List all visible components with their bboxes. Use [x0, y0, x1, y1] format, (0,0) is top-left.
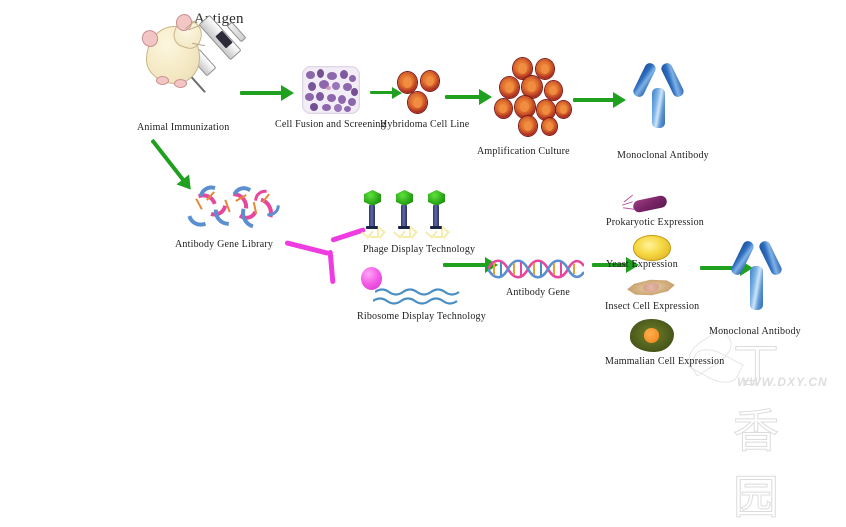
- bacterium-flagellum: [623, 207, 634, 210]
- arrow-shaft: [370, 91, 394, 94]
- label-mammalian-cell-expression: Mammalian Cell Expression: [605, 356, 724, 367]
- step-monoclonal-antibody-top: Monoclonal Antibody: [625, 60, 705, 155]
- label-amplification-culture: Amplification Culture: [477, 146, 570, 157]
- label-prokaryotic-expression: Prokaryotic Expression: [606, 217, 704, 228]
- magenta-y-arm-left: [284, 240, 330, 256]
- step-antibody-gene-library: Antibody Gene Library: [183, 183, 293, 263]
- label-animal-immunization: Animal Immunization: [137, 122, 229, 133]
- label-antibody-gene-library: Antibody Gene Library: [175, 239, 273, 250]
- watermark-url-text: WWW.DXY.CN: [737, 375, 828, 389]
- dna-helix-icon: [488, 258, 584, 280]
- arrow-shaft: [240, 91, 283, 95]
- dna-tangle-icon: [183, 183, 283, 229]
- label-monoclonal-antibody-top: Monoclonal Antibody: [617, 150, 709, 161]
- ribosome-mrna-strand: [373, 296, 461, 305]
- label-antibody-gene: Antibody Gene: [506, 287, 570, 298]
- expression-systems-group: Prokaryotic Expression Yeast Expression …: [605, 195, 735, 375]
- label-hybridoma-cell-line: Hybridoma Cell Line: [380, 119, 469, 130]
- ribosome-mrna-strand: [375, 287, 463, 296]
- antibody-stem: [750, 266, 763, 310]
- arrow-head: [281, 85, 294, 101]
- step-antibody-gene: Antibody Gene: [488, 258, 598, 304]
- step-phage-display: Phage Display Technology: [363, 190, 488, 252]
- yeast-cell-icon: [633, 235, 671, 261]
- arrow-shaft: [445, 95, 481, 99]
- label-ribosome-display: Ribosome Display Technology: [357, 311, 486, 322]
- arrow-head: [479, 89, 492, 105]
- step-cell-fusion-screening: Cell Fusion and Screening: [302, 66, 362, 116]
- mouse-paw: [156, 76, 169, 85]
- step-amplification-culture: Amplification Culture: [495, 58, 571, 138]
- bacterium-icon: [632, 195, 668, 214]
- arrow-shaft: [150, 139, 185, 182]
- step-ribosome-display: Ribosome Display Technology: [357, 267, 487, 322]
- label-cell-fusion-screening: Cell Fusion and Screening: [275, 119, 386, 130]
- mouse-paw: [174, 79, 187, 88]
- label-phage-display: Phage Display Technology: [363, 244, 475, 255]
- antibody-y-icon: [633, 60, 697, 132]
- antibody-y-icon: [731, 238, 795, 314]
- step-hybridoma-cell-line: Hybridoma Cell Line: [393, 68, 457, 120]
- antibody-stem: [652, 88, 665, 128]
- label-insect-cell-expression: Insect Cell Expression: [605, 301, 699, 312]
- step-animal-immunization: Antigen Animal Immunization: [140, 8, 250, 128]
- antibody-y-magenta-icon: [285, 232, 365, 294]
- label-yeast-expression: Yeast Expression: [606, 259, 678, 270]
- stained-cell-plate-icon: [302, 66, 360, 114]
- insect-cell-icon: [626, 277, 676, 299]
- diagram-canvas: 丁香园 WWW.DXY.CN Antigen Animal Immuniz: [0, 0, 846, 400]
- magenta-y-stem: [328, 250, 336, 284]
- arrow-shaft: [573, 98, 615, 102]
- label-monoclonal-antibody-bottom: Monoclonal Antibody: [709, 326, 801, 337]
- watermark-cjk-text: 丁香园: [733, 329, 783, 527]
- step-monoclonal-antibody-bottom: Monoclonal Antibody: [725, 238, 815, 338]
- mammalian-cell-icon: [630, 319, 674, 352]
- magenta-y-arm-right: [330, 227, 366, 243]
- arrow-shaft: [443, 263, 487, 267]
